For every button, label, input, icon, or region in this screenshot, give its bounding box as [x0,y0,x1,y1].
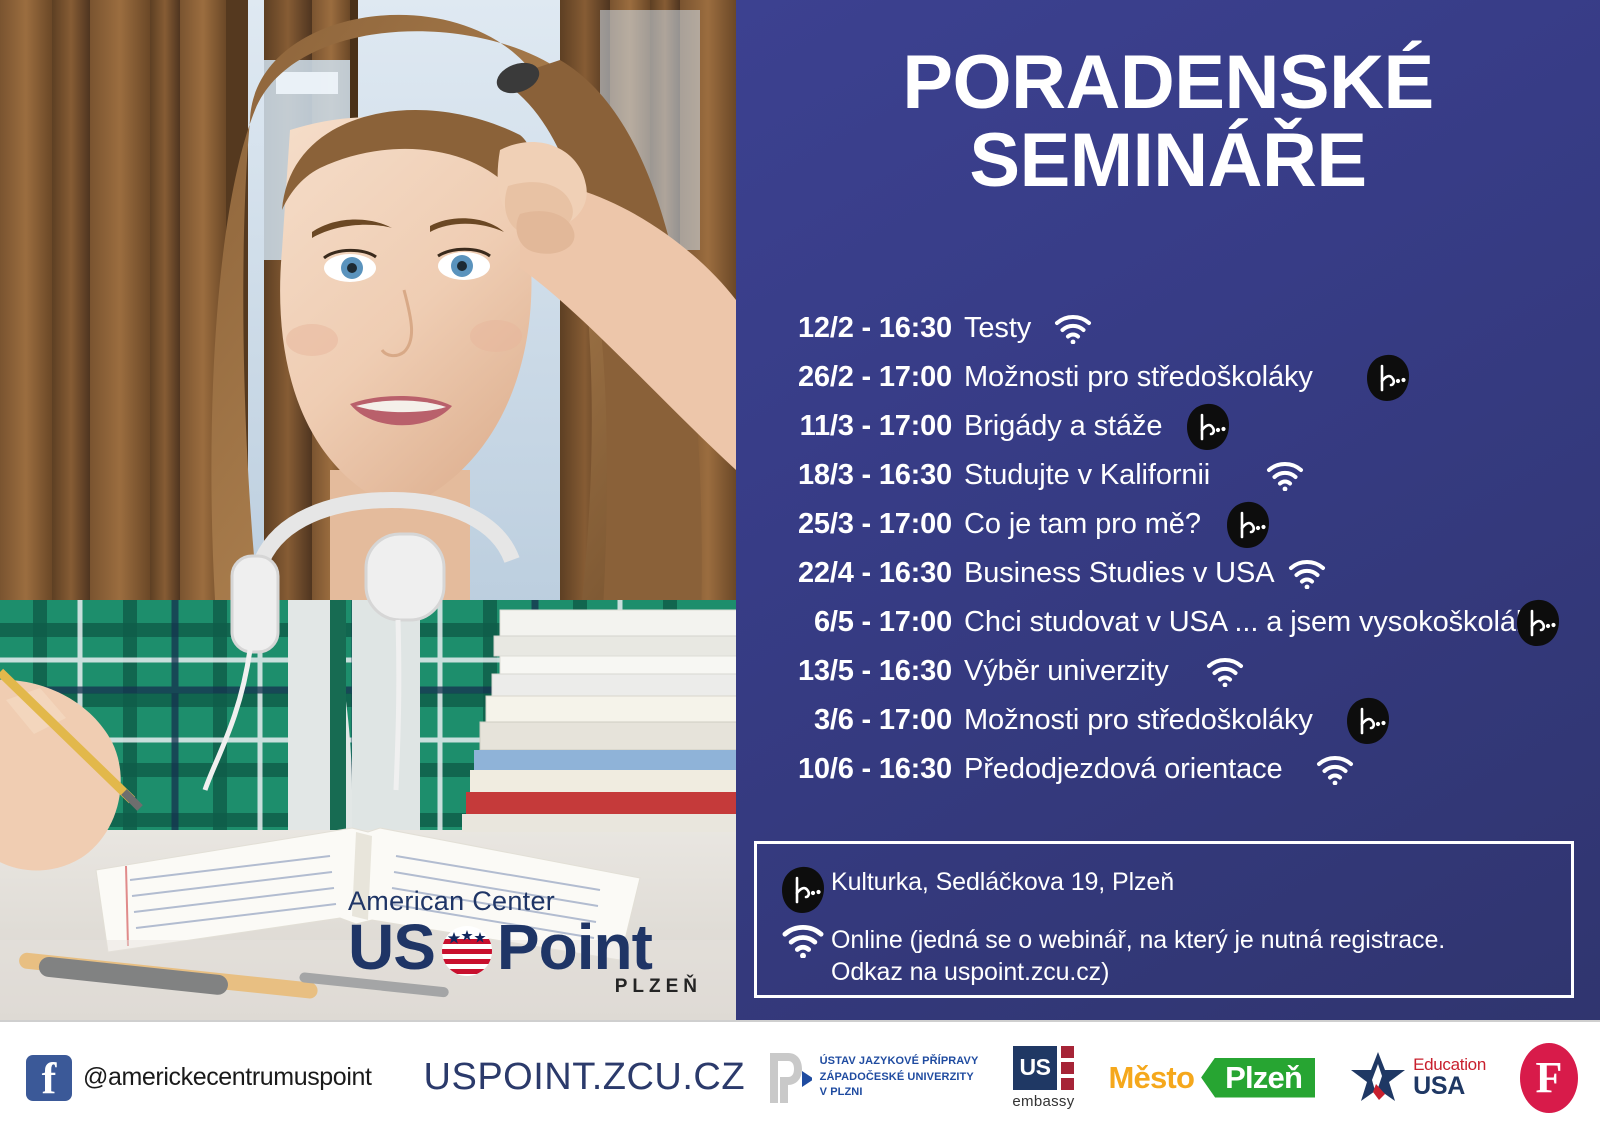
legend-online-line2: Odkaz na uspoint.zcu.cz) [831,956,1445,988]
zcu-logo: ÚSTAV JAZYKOVÉ PŘÍPRAVY ZÁPADOČESKÉ UNIV… [766,1049,979,1107]
legend-venue-text: Kulturka, Sedláčkova 19, Plzeň [831,866,1174,898]
legend-online-text: Online (jedná se o webinář, na který je … [831,924,1445,988]
education-usa-logo: Education USA [1349,1050,1486,1106]
seminar-row[interactable]: 6/5 - 17:00Chci studovat v USA ... a jse… [736,598,1600,647]
seminar-date: 11/3 - 17:00 [736,410,952,443]
seminar-date: 3/6 - 17:00 [736,704,952,737]
seminar-topic: Studujte v Kalifornii [964,459,1210,492]
footer-bar: @americkecentrumuspoint USPOINT.ZCU.CZ Ú… [0,1020,1600,1133]
seminar-date: 22/4 - 16:30 [736,557,952,590]
embassy-bars-icon [1061,1046,1074,1090]
seminar-topic: Možnosti pro středoškoláky [964,704,1313,737]
kulturka-icon [1516,599,1560,647]
kulturka-icon [1186,403,1230,451]
wifi-icon [1316,755,1354,785]
seminar-topic: Možnosti pro středoškoláky [964,361,1313,394]
wifi-icon [1054,314,1092,344]
legend-venue-row: Kulturka, Sedláčkova 19, Plzeň [775,866,1174,914]
wifi-icon [775,924,831,958]
plzen-arrow: Plzeň [1201,1058,1315,1098]
seminar-date: 6/5 - 17:00 [736,606,952,639]
photo-illustration [0,0,736,1020]
logo-us-text: US [348,917,435,978]
kulturka-icon [1346,697,1390,745]
education-usa-star-icon [1349,1050,1407,1106]
student-photo: American Center US [0,0,736,1020]
usa-text: USA [1413,1074,1486,1099]
page-title: PORADENSKÉ SEMINÁŘE [736,44,1600,201]
seminar-row[interactable]: 11/3 - 17:00Brigády a stáže [736,402,1600,451]
plzen-text: Plzeň [1201,1058,1315,1098]
us-embassy-logo: US embassy [1012,1046,1074,1110]
zcu-text: ÚSTAV JAZYKOVÉ PŘÍPRAVY ZÁPADOČESKÉ UNIV… [820,1054,979,1102]
education-text: Education [1413,1056,1486,1073]
seminar-row[interactable]: 26/2 - 17:00Možnosti pro středoškoláky [736,353,1600,402]
logo-point-text: Point [497,917,652,978]
zcu-line-3: V PLZNI [820,1085,979,1101]
seminar-topic: Předodjezdová orientace [964,753,1283,786]
title-line-1: PORADENSKÉ [736,44,1600,122]
kulturka-icon [775,866,831,914]
legend-online-line1: Online (jedná se o webinář, na který je … [831,924,1445,956]
facebook-handle[interactable]: @americkecentrumuspoint [83,1063,372,1092]
kulturka-icon [1366,354,1410,402]
legend-online-row: Online (jedná se o webinář, na který je … [775,924,1445,988]
seminar-topic: Testy [964,312,1031,345]
seminar-date: 12/2 - 16:30 [736,312,952,345]
wifi-icon [1288,559,1326,589]
seminar-row[interactable]: 10/6 - 16:30Předodjezdová orientace [736,745,1600,794]
seminar-date: 18/3 - 16:30 [736,459,952,492]
partner-logos: ÚSTAV JAZYKOVÉ PŘÍPRAVY ZÁPADOČESKÉ UNIV… [766,1043,1578,1113]
legend-box: Kulturka, Sedláčkova 19, Plzeň Online (j… [754,841,1574,998]
kulturka-icon [1226,501,1270,549]
forbes-f-logo: F [1520,1043,1578,1113]
seminar-topic: Chci studovat v USA ... a jsem vysokoško… [964,606,1530,639]
embassy-word: embassy [1012,1093,1074,1110]
seminar-row[interactable]: 25/3 - 17:00Co je tam pro mě? [736,500,1600,549]
wifi-icon [1266,461,1304,491]
seminar-date: 13/5 - 16:30 [736,655,952,688]
facebook-icon[interactable] [26,1055,72,1101]
seminar-date: 26/2 - 17:00 [736,361,952,394]
zcu-line-1: ÚSTAV JAZYKOVÉ PŘÍPRAVY [820,1054,979,1070]
seminar-row[interactable]: 18/3 - 16:30Studujte v Kalifornii [736,451,1600,500]
zcu-mark-icon [766,1049,812,1107]
seminar-topic: Výběr univerzity [964,655,1169,688]
seminar-date: 25/3 - 17:00 [736,508,952,541]
seminar-topic: Co je tam pro mě? [964,508,1201,541]
seminar-row[interactable]: 13/5 - 16:30Výběr univerzity [736,647,1600,696]
seminar-topic: Brigády a stáže [964,410,1162,443]
seminar-row[interactable]: 22/4 - 16:30Business Studies v USA [736,549,1600,598]
embassy-us-text: US [1013,1046,1057,1090]
us-point-logo: American Center US [348,888,708,998]
seminar-row[interactable]: 12/2 - 16:30Testy [736,304,1600,353]
seminar-date: 10/6 - 16:30 [736,753,952,786]
wifi-icon [1206,657,1244,687]
seminar-list: 12/2 - 16:30Testy 26/2 - 17:00Možnosti p… [736,304,1600,794]
website-url[interactable]: USPOINT.ZCU.CZ [424,1056,746,1099]
us-flag-circle-icon [441,925,493,977]
mesto-text: Město [1109,1060,1195,1096]
mesto-plzen-logo: Město Plzeň [1109,1058,1316,1098]
poster: American Center US [0,0,1600,1131]
title-line-2: SEMINÁŘE [736,122,1600,200]
info-panel: PORADENSKÉ SEMINÁŘE 12/2 - 16:30Testy 26… [736,0,1600,1020]
seminar-topic: Business Studies v USA [964,557,1275,590]
zcu-line-2: ZÁPADOČESKÉ UNIVERZITY [820,1070,979,1086]
seminar-row[interactable]: 3/6 - 17:00Možnosti pro středoškoláky [736,696,1600,745]
